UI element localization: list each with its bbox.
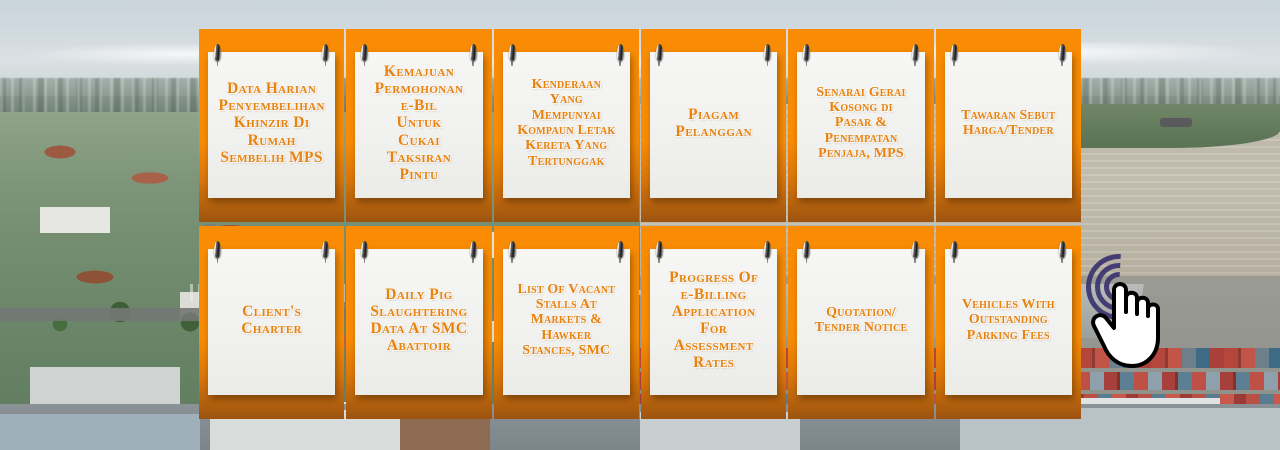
- pinned-note: List Of Vacant Stalls At Markets & Hawke…: [503, 249, 630, 395]
- card-title: Data Harian Penyembelihan Khinzir Di Rum…: [218, 80, 324, 165]
- pinned-note: Kenderaan Yang Mempunyai Kompaun Letak K…: [503, 52, 630, 198]
- card-title: List Of Vacant Stalls At Markets & Hawke…: [517, 282, 615, 359]
- pushpin-icon: [470, 44, 477, 61]
- pinned-note: Kemajuan Permohonan e-Bil Untuk Cukai Ta…: [355, 52, 482, 198]
- pushpin-icon: [322, 44, 329, 61]
- pushpin-icon: [951, 241, 958, 258]
- service-card-senarai-gerai-kosong[interactable]: Senarai Gerai Kosong di Pasar & Penempat…: [788, 29, 933, 222]
- pushpin-icon: [803, 44, 810, 61]
- card-title: Quotation/ Tender Notice: [815, 305, 908, 336]
- pushpin-icon: [803, 241, 810, 258]
- pushpin-icon: [617, 241, 624, 258]
- card-title: Piagam Pelanggan: [675, 106, 752, 140]
- card-title: Progress Of e-Billing Application For As…: [669, 269, 758, 371]
- pinned-note: Progress Of e-Billing Application For As…: [650, 249, 777, 395]
- pinned-note: Data Harian Penyembelihan Khinzir Di Rum…: [208, 52, 335, 198]
- pushpin-icon: [912, 241, 919, 258]
- pushpin-icon: [764, 44, 771, 61]
- pinned-note: Daily Pig Slaughtering Data At SMC Abatt…: [355, 249, 482, 395]
- service-card-progress-of-e-billing-application[interactable]: Progress Of e-Billing Application For As…: [641, 226, 786, 419]
- service-card-data-harian-penyembelihan-khinzir[interactable]: Data Harian Penyembelihan Khinzir Di Rum…: [199, 29, 344, 222]
- service-card-grid: Data Harian Penyembelihan Khinzir Di Rum…: [199, 29, 1081, 419]
- pinned-note: Client's Charter: [208, 249, 335, 395]
- service-card-kenderaan-kompaun-letak-kereta[interactable]: Kenderaan Yang Mempunyai Kompaun Letak K…: [494, 29, 639, 222]
- pushpin-icon: [470, 241, 477, 258]
- service-card-quotation-tender-notice[interactable]: Quotation/ Tender Notice: [788, 226, 933, 419]
- pushpin-icon: [322, 241, 329, 258]
- card-title: Client's Charter: [241, 303, 302, 337]
- pushpin-icon: [656, 241, 663, 258]
- service-card-kemajuan-permohonan-e-bil[interactable]: Kemajuan Permohonan e-Bil Untuk Cukai Ta…: [346, 29, 491, 222]
- card-title: Kemajuan Permohonan e-Bil Untuk Cukai Ta…: [375, 63, 464, 182]
- pushpin-icon: [509, 241, 516, 258]
- pinned-note: Quotation/ Tender Notice: [797, 249, 924, 395]
- card-title: Senarai Gerai Kosong di Pasar & Penempat…: [816, 85, 905, 162]
- service-card-vehicles-with-outstanding-parking-fees[interactable]: Vehicles With Outstanding Parking Fees: [936, 226, 1081, 419]
- card-title: Tawaran Sebut Harga/Tender: [961, 108, 1055, 139]
- pushpin-icon: [361, 241, 368, 258]
- photo-barge: [1160, 118, 1192, 127]
- service-card-list-of-vacant-stalls[interactable]: List Of Vacant Stalls At Markets & Hawke…: [494, 226, 639, 419]
- pushpin-icon: [361, 44, 368, 61]
- pinned-note: Vehicles With Outstanding Parking Fees: [945, 249, 1072, 395]
- pushpin-icon: [912, 44, 919, 61]
- pushpin-icon: [951, 44, 958, 61]
- pushpin-icon: [1059, 44, 1066, 61]
- service-card-tawaran-sebut-harga-tender[interactable]: Tawaran Sebut Harga/Tender: [936, 29, 1081, 222]
- pinned-note: Tawaran Sebut Harga/Tender: [945, 52, 1072, 198]
- pushpin-icon: [656, 44, 663, 61]
- pushpin-icon: [214, 241, 221, 258]
- pinned-note: Senarai Gerai Kosong di Pasar & Penempat…: [797, 52, 924, 198]
- pushpin-icon: [509, 44, 516, 61]
- page-stage: Data Harian Penyembelihan Khinzir Di Rum…: [0, 0, 1280, 450]
- pushpin-icon: [214, 44, 221, 61]
- service-card-clients-charter[interactable]: Client's Charter: [199, 226, 344, 419]
- service-card-piagam-pelanggan[interactable]: Piagam Pelanggan: [641, 29, 786, 222]
- card-title: Kenderaan Yang Mempunyai Kompaun Letak K…: [517, 77, 615, 169]
- service-card-daily-pig-slaughtering-data[interactable]: Daily Pig Slaughtering Data At SMC Abatt…: [346, 226, 491, 419]
- card-title: Vehicles With Outstanding Parking Fees: [962, 297, 1055, 343]
- pushpin-icon: [764, 241, 771, 258]
- pinned-note: Piagam Pelanggan: [650, 52, 777, 198]
- pushpin-icon: [1059, 241, 1066, 258]
- card-title: Daily Pig Slaughtering Data At SMC Abatt…: [370, 286, 467, 354]
- pushpin-icon: [617, 44, 624, 61]
